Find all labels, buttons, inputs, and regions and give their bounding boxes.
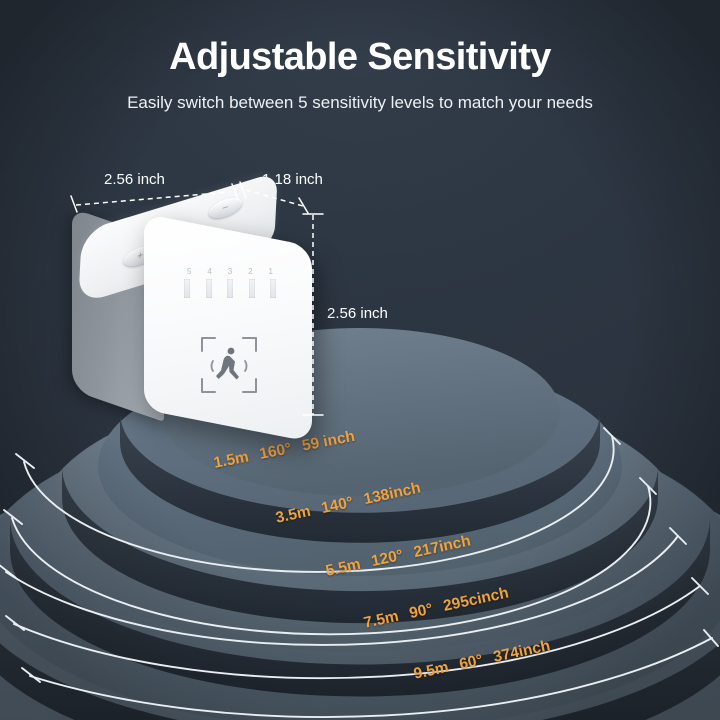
level-bar-2 <box>249 279 255 298</box>
level-bar-5 <box>184 279 190 298</box>
sensitivity-level-bars <box>184 279 276 298</box>
level-bar-4 <box>206 279 212 298</box>
level-number-5: 5 <box>187 268 191 276</box>
range-angle-4: 90° <box>408 601 434 623</box>
product-feature-graphic: Adjustable Sensitivity Easily switch bet… <box>0 0 720 720</box>
level-bar-3 <box>227 279 233 298</box>
motion-detection-icon <box>198 334 260 396</box>
level-bar-1 <box>270 279 276 298</box>
page-subtitle: Easily switch between 5 sensitivity leve… <box>0 93 720 113</box>
level-number-2: 2 <box>248 268 252 276</box>
device-front-face: 5 4 3 2 1 <box>144 214 312 443</box>
level-number-4: 4 <box>207 268 211 276</box>
header: Adjustable Sensitivity Easily switch bet… <box>0 0 720 113</box>
motion-sensor-device: + − 5 4 3 2 1 <box>72 196 312 458</box>
page-title: Adjustable Sensitivity <box>0 36 720 79</box>
sensitivity-level-numbers: 5 4 3 2 1 <box>184 268 276 279</box>
sensitivity-level-indicator: 5 4 3 2 1 <box>184 268 276 298</box>
range-angle-5: 60° <box>458 652 484 674</box>
minus-icon: − <box>209 197 243 218</box>
level-number-3: 3 <box>228 268 232 276</box>
decrease-sensitivity-button[interactable]: − <box>208 194 242 221</box>
level-number-1: 1 <box>269 268 273 276</box>
